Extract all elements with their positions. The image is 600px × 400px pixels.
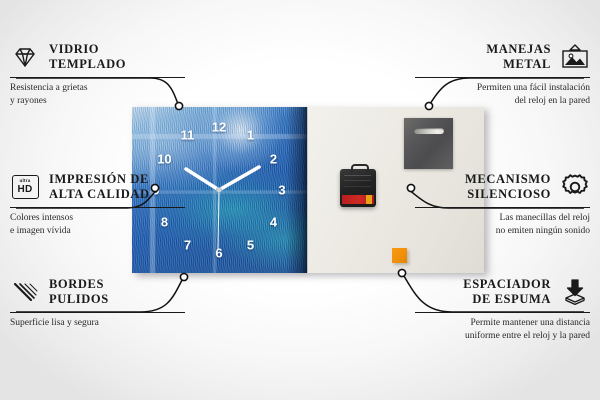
callout-title-line2: TEMPLADO	[49, 57, 126, 72]
diamond-icon	[10, 42, 40, 72]
press-down-icon	[560, 277, 590, 307]
callout-divider	[10, 312, 185, 313]
callout-description: Superficie lisa y segura	[10, 317, 185, 330]
callout-impresion-alta-calidad: ultra HD IMPRESIÓN DE ALTA CALIDAD Color…	[10, 172, 185, 237]
callout-title-line1: BORDES	[49, 277, 109, 292]
callout-title-line2: ALTA CALIDAD	[49, 187, 150, 202]
clock-hand-cap	[216, 187, 221, 192]
callout-header: BORDES PULIDOS	[10, 277, 185, 307]
clock-hour-hand	[186, 169, 219, 190]
ultra-hd-icon: ultra HD	[10, 172, 40, 202]
callout-title: MANEJAS METAL	[486, 42, 551, 72]
mechanism-detail-lines	[344, 175, 371, 191]
callout-title-line2: PULIDOS	[49, 292, 109, 307]
hanger-slot	[414, 128, 444, 134]
callout-header: ultra HD IMPRESIÓN DE ALTA CALIDAD	[10, 172, 185, 202]
mechanism-label	[342, 195, 374, 204]
callout-header: MECANISMO SILENCIOSO	[415, 172, 590, 202]
metal-hanger-plate	[404, 118, 453, 169]
callout-desc-line1: Colores intensos	[10, 212, 185, 225]
callout-vidrio-templado: VIDRIO TEMPLADO Resistencia a grietas y …	[10, 42, 185, 107]
callout-title: IMPRESIÓN DE ALTA CALIDAD	[49, 172, 150, 202]
callout-divider	[10, 207, 185, 208]
callout-desc-line2: y rayones	[10, 95, 185, 108]
callout-title-line1: MECANISMO	[465, 172, 551, 187]
picture-frame-icon	[560, 42, 590, 72]
ultra-hd-badge: ultra HD	[12, 175, 39, 199]
mechanism-hanger-tab	[351, 164, 369, 173]
callout-title: VIDRIO TEMPLADO	[49, 42, 126, 72]
callout-title-line1: VIDRIO	[49, 42, 126, 57]
clock-second-hand	[218, 190, 219, 250]
callout-description: Permite mantener una distancia uniforme …	[415, 317, 590, 342]
foam-spacer-square	[392, 248, 407, 263]
callout-title-line1: MANEJAS	[486, 42, 551, 57]
mechanism-label-accent	[366, 195, 372, 204]
callout-header: VIDRIO TEMPLADO	[10, 42, 185, 72]
callout-manejas-metal: MANEJAS METAL Permiten una fácil instala…	[415, 42, 590, 107]
callout-description: Colores intensos e imagen vívida	[10, 212, 185, 237]
callout-title-line2: METAL	[486, 57, 551, 72]
callout-title-line1: ESPACIADOR	[463, 277, 551, 292]
callout-desc-line1: Las manecillas del reloj	[415, 212, 590, 225]
clock-mechanism-box	[340, 169, 376, 207]
gear-icon	[560, 172, 590, 202]
callout-divider	[415, 312, 590, 313]
infographic-canvas: 121234567891011	[0, 0, 600, 400]
callout-desc-line2: e imagen vívida	[10, 225, 185, 238]
callout-bordes-pulidos: BORDES PULIDOS Superficie lisa y segura	[10, 277, 185, 330]
callout-header: ESPACIADOR DE ESPUMA	[415, 277, 590, 307]
callout-divider	[415, 77, 590, 78]
callout-desc-line2: uniforme entre el reloj y la pared	[415, 330, 590, 343]
callout-header: MANEJAS METAL	[415, 42, 590, 72]
callout-desc-line2: del reloj en la pared	[415, 95, 590, 108]
ultra-hd-big-text: HD	[17, 185, 32, 195]
polished-edges-icon	[10, 277, 40, 307]
clock-minute-hand	[219, 167, 259, 190]
callout-description: Resistencia a grietas y rayones	[10, 82, 185, 107]
callout-desc-line1: Permiten una fácil instalación	[415, 82, 590, 95]
callout-desc-line1: Superficie lisa y segura	[10, 317, 185, 330]
callout-desc-line1: Permite mantener una distancia	[415, 317, 590, 330]
callout-title-line2: DE ESPUMA	[463, 292, 551, 307]
callout-mecanismo-silencioso: MECANISMO SILENCIOSO Las manecillas del …	[415, 172, 590, 237]
callout-desc-line2: no emiten ningún sonido	[415, 225, 590, 238]
callout-title-line1: IMPRESIÓN DE	[49, 172, 150, 187]
callout-title: BORDES PULIDOS	[49, 277, 109, 307]
callout-description: Permiten una fácil instalación del reloj…	[415, 82, 590, 107]
callout-title-line2: SILENCIOSO	[465, 187, 551, 202]
callout-espaciador-de-espuma: ESPACIADOR DE ESPUMA Permite mantener un…	[415, 277, 590, 342]
callout-divider	[10, 77, 185, 78]
callout-divider	[415, 207, 590, 208]
callout-desc-line1: Resistencia a grietas	[10, 82, 185, 95]
callout-title: ESPACIADOR DE ESPUMA	[463, 277, 551, 307]
callout-title: MECANISMO SILENCIOSO	[465, 172, 551, 202]
callout-description: Las manecillas del reloj no emiten ningú…	[415, 212, 590, 237]
